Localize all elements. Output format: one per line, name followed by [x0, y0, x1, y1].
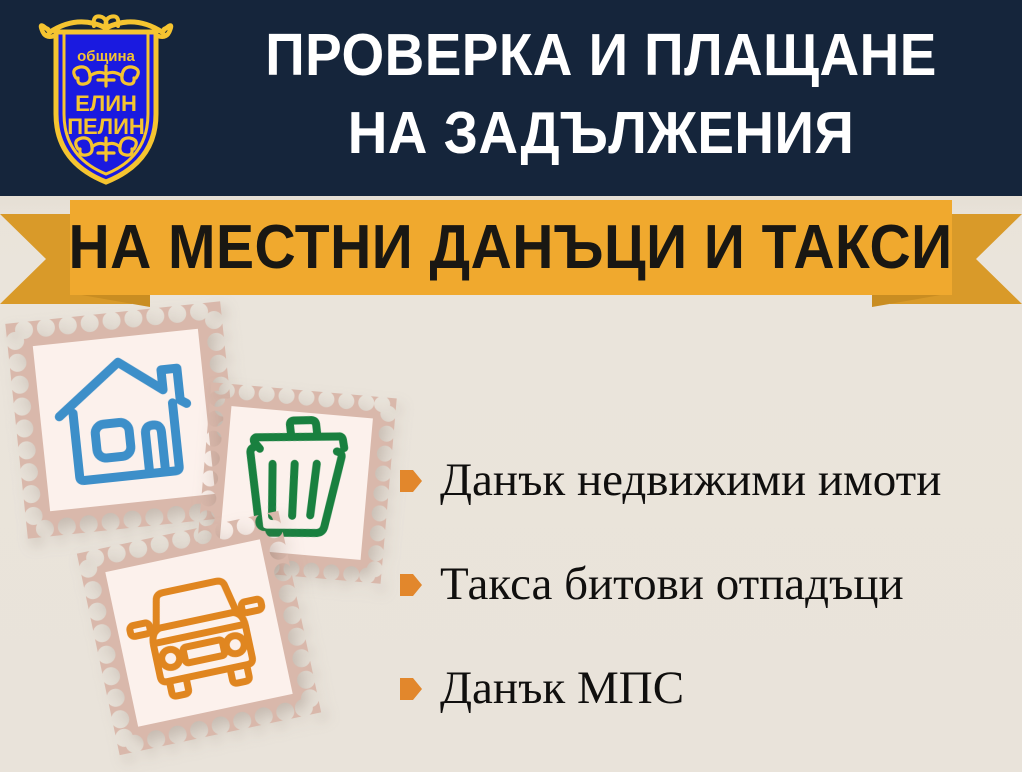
page-title-line-2: НА ЗАДЪЛЖЕНИЯ	[224, 94, 977, 172]
emblem-label-line-1: ЕЛИН	[75, 91, 137, 116]
tax-types-list: Данък недвижими имоти Такса битови отпад…	[400, 428, 1010, 740]
stamp-card-vehicle-tax	[77, 511, 321, 755]
list-item-label: Данък МПС	[440, 662, 684, 714]
list-item-label: Данък недвижими имоти	[440, 454, 941, 506]
bullet-arrow-icon	[400, 676, 422, 702]
bullet-arrow-icon	[400, 572, 422, 598]
page-title-line-1: ПРОВЕРКА И ПЛАЩАНЕ	[265, 22, 937, 88]
ribbon-banner: НА МЕСТНИ ДАНЪЦИ И ТАКСИ	[0, 196, 1022, 311]
ribbon-subtitle: НА МЕСТНИ ДАНЪЦИ И ТАКСИ	[69, 217, 953, 279]
list-item[interactable]: Такса битови отпадъци	[400, 532, 1010, 636]
list-item[interactable]: Данък недвижими имоти	[400, 428, 1010, 532]
page-title: ПРОВЕРКА И ПЛАЩАНЕ НА ЗАДЪЛЖЕНИЯ	[224, 16, 977, 172]
coat-of-arms-icon: община ЕЛИН ПЕЛИН	[26, 10, 186, 190]
emblem-label-top: община	[77, 48, 135, 65]
ribbon-main-panel: НА МЕСТНИ ДАНЪЦИ И ТАКСИ	[70, 200, 952, 295]
coat-of-arms-emblem: община ЕЛИН ПЕЛИН	[26, 10, 186, 190]
bullet-arrow-icon	[400, 468, 422, 494]
list-item[interactable]: Данък МПС	[400, 636, 1010, 740]
poster-root: ПРОВЕРКА И ПЛАЩАНЕ НА ЗАДЪЛЖЕНИЯ	[0, 0, 1022, 772]
emblem-label-line-2: ПЕЛИН	[67, 114, 145, 139]
list-item-label: Такса битови отпадъци	[440, 558, 904, 610]
